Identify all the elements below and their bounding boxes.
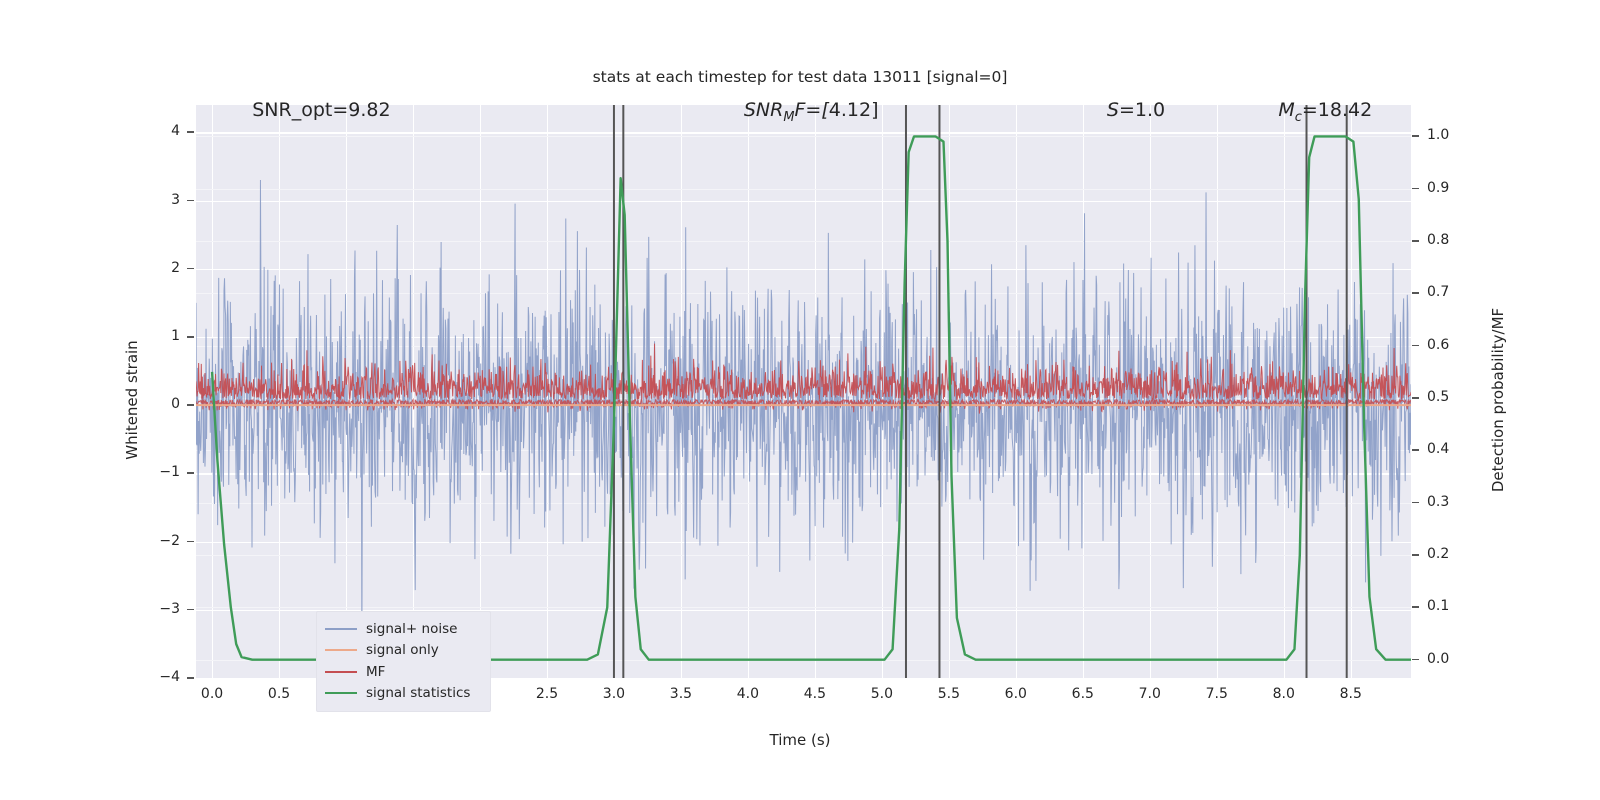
y-tick-mark-right [1412,502,1419,504]
x-tick-label: 0.5 [268,686,290,702]
y-tick-mark-right [1412,135,1419,137]
figure-canvas: stats at each timestep for test data 130… [0,0,1600,800]
y-tick-label-left: −1 [140,464,180,480]
annotation-mc-subscript: c [1295,110,1302,125]
x-tick-label: 5.0 [871,686,893,702]
annotation-s-value: =1.0 [1119,99,1165,121]
y-tick-label-left: 3 [140,192,180,208]
y-tick-label-left: 1 [140,328,180,344]
y-tick-mark-right [1412,240,1419,242]
y-tick-mark-left [187,541,194,543]
annotation-snr-mf: SNRMF=[4.12] [744,99,879,125]
x-tick-label: 4.5 [804,686,826,702]
x-tick-label: 4.0 [737,686,759,702]
y-tick-mark-right [1412,659,1419,661]
legend-item[interactable]: signal+ noise [325,618,482,640]
y-tick-label-right: 0.5 [1427,389,1449,405]
plot-axes-area[interactable] [196,105,1411,678]
x-tick-label: 8.0 [1273,686,1295,702]
x-axis-label: Time (s) [0,731,1600,749]
x-tick-label: 6.5 [1072,686,1094,702]
legend-item[interactable]: signal statistics [325,683,482,705]
y-tick-label-left: −4 [140,669,180,685]
annotation-snr-mf-value: 4.12 [829,99,871,121]
x-tick-label: 3.5 [670,686,692,702]
signal-noise-trace [196,180,1411,653]
y-tick-label-right: 0.3 [1427,494,1449,510]
legend-color-swatch [325,692,357,694]
x-tick-label: 2.5 [536,686,558,702]
y-tick-mark-right [1412,292,1419,294]
page-title: stats at each timestep for test data 130… [0,68,1600,86]
y-tick-mark-right [1412,554,1419,556]
annotation-chirp-mass: Mc=18.42 [1278,99,1372,125]
y-tick-label-right: 1.0 [1427,127,1449,143]
legend-item-label: signal only [366,642,439,658]
annotation-mc-symbol: M [1278,99,1294,121]
y-tick-mark-right [1412,449,1419,451]
y-tick-mark-left [187,609,194,611]
legend-item[interactable]: signal only [325,640,482,662]
annotation-snr-mf-mid: F=[ [795,99,829,121]
y-tick-mark-left [187,131,194,133]
annotation-snr-mf-subscript: M [783,110,794,125]
legend-item-label: signal statistics [366,685,470,701]
y-tick-mark-left [187,677,194,679]
y-tick-label-right: 0.6 [1427,337,1449,353]
y-axis-label-right: Detection probability/MF [1489,308,1507,492]
y-tick-mark-left [187,472,194,474]
y-tick-mark-left [187,200,194,202]
x-tick-label: 7.0 [1139,686,1161,702]
x-tick-label: 6.0 [1005,686,1027,702]
y-tick-label-right: 0.0 [1427,651,1449,667]
annotation-s-symbol: S [1107,99,1119,121]
legend-color-swatch [325,671,357,673]
annotation-snr-mf-prefix: SNR [744,99,783,121]
y-tick-label-left: −2 [140,533,180,549]
legend-color-swatch [325,628,357,630]
y-tick-label-right: 0.7 [1427,284,1449,300]
legend-item-label: signal+ noise [366,621,457,637]
annotation-snr-opt-value: 9.82 [348,99,390,121]
y-tick-label-left: 0 [140,396,180,412]
y-tick-label-left: 4 [140,123,180,139]
legend-item-label: MF [366,664,385,680]
legend-color-swatch [325,649,357,651]
y-tick-mark-left [187,336,194,338]
chart-data-layer [196,105,1411,678]
y-tick-label-right: 0.4 [1427,441,1449,457]
x-tick-label: 3.0 [603,686,625,702]
y-tick-mark-right [1412,397,1419,399]
annotation-snr-mf-suffix: ] [871,99,878,121]
x-tick-label: 8.5 [1340,686,1362,702]
y-tick-label-right: 0.2 [1427,546,1449,562]
x-tick-label: 0.0 [201,686,223,702]
y-axis-label-left: Whitened strain [123,340,141,459]
y-tick-mark-left [187,268,194,270]
annotation-s-statistic: S=1.0 [1107,99,1165,121]
legend-item[interactable]: MF [325,661,482,683]
y-tick-label-left: −3 [140,601,180,617]
y-tick-label-right: 0.1 [1427,598,1449,614]
y-tick-mark-right [1412,606,1419,608]
legend[interactable]: signal+ noisesignal onlyMFsignal statist… [316,611,491,712]
y-tick-mark-right [1412,345,1419,347]
y-tick-mark-left [187,404,194,406]
y-tick-label-left: 2 [140,260,180,276]
y-tick-label-right: 0.9 [1427,180,1449,196]
x-tick-label: 7.5 [1206,686,1228,702]
annotation-mc-value: =18.42 [1302,99,1372,121]
x-tick-label: 5.5 [938,686,960,702]
y-tick-label-right: 0.8 [1427,232,1449,248]
y-tick-mark-right [1412,188,1419,190]
annotation-snr-opt-label: SNR_opt= [252,99,348,121]
annotation-snr-opt: SNR_opt=9.82 [252,99,390,121]
